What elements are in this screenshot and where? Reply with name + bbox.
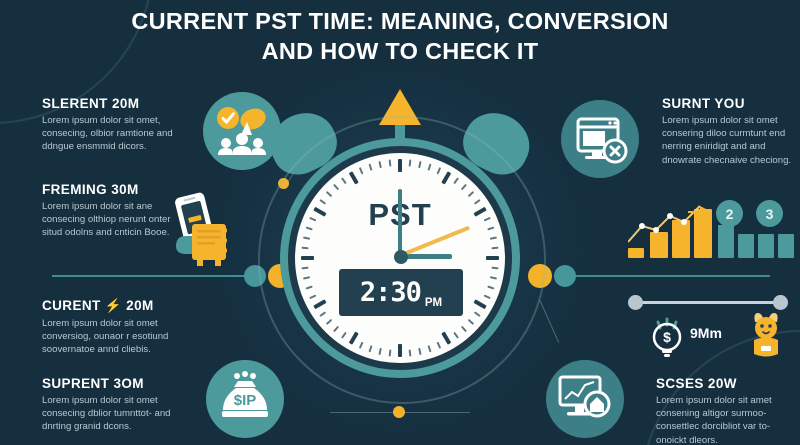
hand-phone-ticket-icon — [168, 188, 244, 274]
svg-text:$: $ — [663, 329, 671, 345]
mascot-icon — [745, 312, 787, 360]
monitor-chart-house-icon — [546, 360, 624, 438]
block-heading: SURNT YOU — [662, 96, 794, 111]
team-check-glyph — [214, 105, 270, 157]
text-block-left-3: CURENT ⚡ 20M Lorem ipsum dolor sit omet … — [42, 298, 197, 357]
block-body: Lorem ipsum dolor sit amet consening alt… — [656, 394, 798, 445]
alarm-clock-illustration: PST 2:30 PM — [268, 80, 532, 410]
block-heading: SCSES 20W — [656, 376, 798, 391]
hand-phone-glyph — [168, 188, 244, 274]
team-check-icon — [203, 92, 281, 170]
browser-window-x-glyph — [572, 113, 628, 165]
monitor-house-glyph — [556, 373, 614, 425]
block-heading: SUPRENT 3OM — [42, 376, 197, 391]
browser-error-icon — [561, 100, 639, 178]
block-heading: CURENT ⚡ 20M — [42, 298, 197, 314]
block-body: Lorem ipsum dolor sit omet consecing dbl… — [42, 394, 197, 434]
clock-outer-decor-arc — [258, 116, 546, 404]
text-block-right-2: SCSES 20W Lorem ipsum dolor sit amet con… — [656, 376, 798, 445]
badge-number-two: 2 — [716, 200, 743, 227]
range-slider-knob-right[interactable] — [773, 295, 788, 310]
connector-dot-right-teal — [554, 265, 576, 287]
page-title: CURRENT PST TIME: MEANING, CONVERSION AN… — [120, 6, 680, 66]
block-body: Lorem ipsum dolor sit omet conversiog, o… — [42, 317, 197, 357]
text-block-left-1: SLERENT 20M Lorem ipsum dolor sit omet, … — [42, 96, 192, 154]
range-slider-knob-left[interactable] — [628, 295, 643, 310]
connector-line-right — [576, 275, 770, 277]
block-body: Lorem ipsum dolor sit omet consering dil… — [662, 114, 794, 167]
mascot-glyph — [745, 312, 787, 360]
money-bag-icon: $IP — [206, 360, 284, 438]
money-bag-glyph: $IP — [216, 371, 274, 427]
bulb-dollar-glyph: $ — [646, 315, 688, 359]
bulb-value-label: 9Mm — [690, 325, 722, 341]
badge-number-three: 3 — [756, 200, 783, 227]
text-block-right-1: SURNT YOU Lorem ipsum dolor sit omet con… — [662, 96, 794, 167]
bulb-dollar-icon: $ — [646, 315, 688, 359]
range-slider-track[interactable] — [634, 301, 782, 304]
block-body: Lorem ipsum dolor sit omet, consecing, o… — [42, 114, 192, 154]
connector-line-left — [52, 275, 246, 277]
infographic-canvas: CURRENT PST TIME: MEANING, CONVERSION AN… — [0, 0, 800, 445]
growth-bar-chart: 2 3 — [628, 196, 796, 258]
connector-thin-bottom-right — [540, 300, 560, 342]
money-bag-label: $IP — [234, 392, 257, 409]
block-heading: SLERENT 20M — [42, 96, 192, 111]
text-block-left-4: SUPRENT 3OM Lorem ipsum dolor sit omet c… — [42, 376, 197, 434]
